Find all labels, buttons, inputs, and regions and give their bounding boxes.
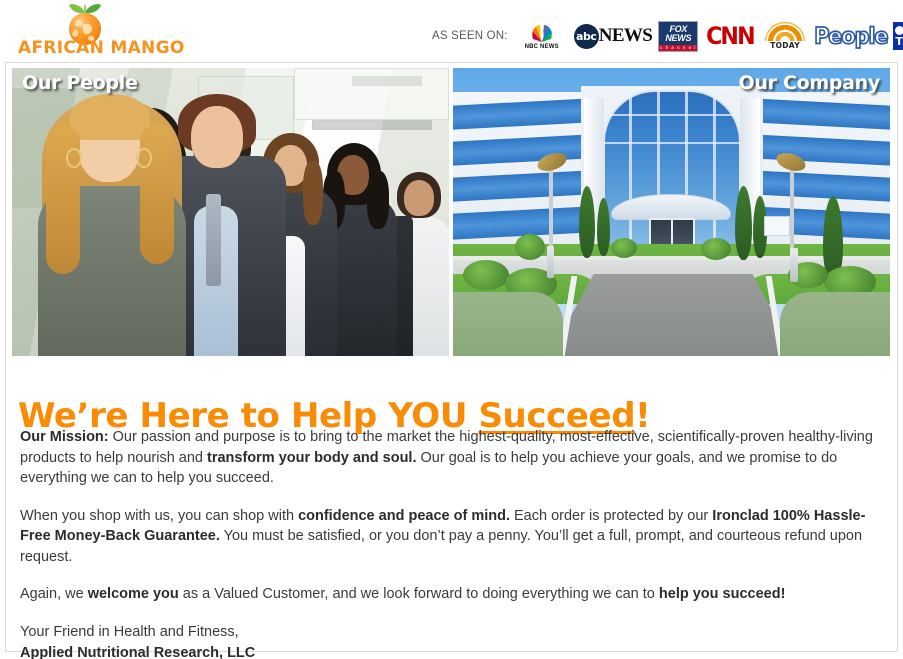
brand-wordmark: AFRICAN MANGO — [18, 39, 150, 57]
mission-lead: Our Mission: — [20, 429, 109, 445]
signoff-line2: Applied Nutritional Research, LLC — [20, 645, 255, 659]
flower-bed — [453, 292, 563, 356]
abc-circle-icon: abc — [574, 24, 599, 49]
page-header: AFRICAN MANGO AS SEEN ON: — [0, 0, 903, 62]
our-people-photo: Our People — [12, 68, 449, 356]
as-seen-on-label: AS SEEN ON: — [432, 30, 508, 42]
cnn-icon[interactable]: CNN — [704, 19, 756, 53]
our-company-caption: Our Company — [739, 72, 881, 94]
people-wordmark: People — [814, 23, 887, 48]
usa-today-dot-icon — [895, 26, 903, 35]
usa-today-line2: TODAY. — [895, 36, 903, 47]
signoff-line1: Your Friend in Health and Fitness, — [20, 624, 239, 640]
our-people-caption: Our People — [22, 72, 138, 94]
flower-bed — [780, 292, 890, 356]
people-magazine-icon[interactable]: People — [814, 19, 887, 53]
cnn-wordmark: CNN — [706, 22, 754, 50]
office-ceiling-sign — [352, 76, 422, 86]
today-wordmark: TODAY — [770, 41, 800, 50]
fox-news-icon[interactable]: FOX NEWS c h a n n e l — [658, 19, 698, 53]
brand-logo[interactable]: AFRICAN MANGO — [18, 1, 150, 59]
body-copy: Our Mission: Our passion and purpose is … — [20, 427, 888, 659]
abc-news-word: NEWS — [599, 25, 653, 47]
office-light-fixture — [312, 120, 432, 130]
today-arc-shape — [765, 22, 805, 41]
abc-news-icon[interactable]: abc NEWS — [574, 19, 653, 53]
person-1 — [32, 84, 192, 356]
hero-images: Our People — [12, 68, 891, 356]
atrium-mullion — [713, 94, 716, 258]
paragraph-welcome: Again, we welcome you as a Valued Custom… — [20, 584, 888, 605]
welcome-bold-2: help you succeed! — [659, 586, 786, 602]
guarantee-text-1: When you shop with us, you can shop with — [20, 508, 298, 524]
sign-board — [764, 216, 790, 236]
guarantee-text-2: Each order is protected by our — [510, 508, 712, 524]
as-seen-on-strip: AS SEEN ON: NBC NEWS — [432, 18, 903, 54]
atrium-mullion — [603, 142, 741, 144]
content-frame: Our People — [5, 62, 898, 652]
bollard — [547, 246, 554, 278]
welcome-bold-1: welcome you — [88, 586, 179, 602]
our-company-photo: Our Company — [453, 68, 890, 356]
shrub — [515, 234, 545, 260]
fox-news-line2: NEWS — [665, 34, 691, 43]
nbc-news-label: NBC NEWS — [525, 44, 559, 51]
paragraph-mission: Our Mission: Our passion and purpose is … — [20, 427, 888, 489]
atrium-mullion — [629, 94, 632, 258]
shrub — [611, 238, 637, 258]
today-rainbow-icon[interactable]: TODAY — [762, 19, 808, 53]
usa-today-icon[interactable]: USA TODAY. — [893, 19, 903, 53]
paragraph-guarantee: When you shop with us, you can shop with… — [20, 506, 888, 568]
atrium-mullion — [603, 114, 741, 116]
shrub — [463, 260, 509, 290]
shrub — [701, 238, 731, 260]
fox-news-channel-bar: c h a n n e l — [659, 45, 697, 51]
page-root: AFRICAN MANGO AS SEEN ON: — [0, 0, 903, 659]
bollard — [790, 248, 798, 282]
mission-bold-1: transform your body and soul. — [207, 450, 416, 466]
paragraph-signoff: Your Friend in Health and Fitness,Applie… — [20, 622, 888, 659]
welcome-text-2: as a Valued Customer, and we look forwar… — [179, 586, 659, 602]
welcome-text-1: Again, we — [20, 586, 88, 602]
nbc-peacock-icon[interactable]: NBC NEWS — [516, 19, 568, 53]
guarantee-bold-1: confidence and peace of mind. — [298, 508, 510, 524]
